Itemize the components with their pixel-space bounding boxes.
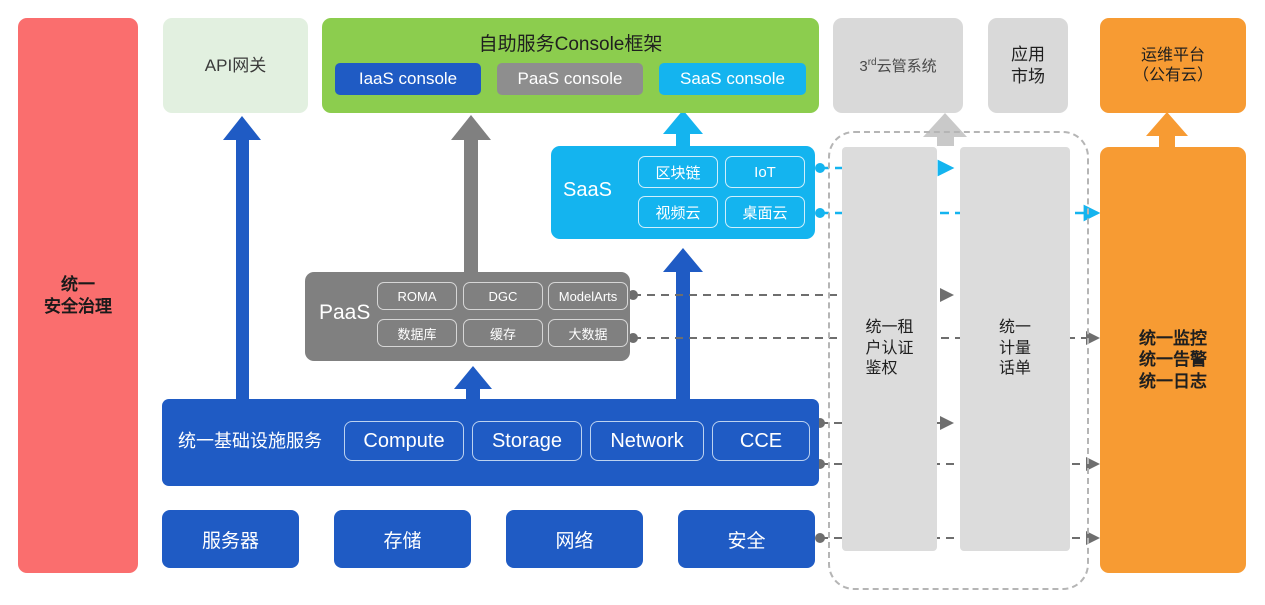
saas-console-button[interactable]: SaaS console — [659, 63, 806, 95]
saas-chip-desktop-cloud[interactable]: 桌面云 — [725, 196, 805, 228]
architecture-diagram-canvas: 统一 安全治理 API网关 自助服务Console框架 IaaS console… — [0, 0, 1265, 605]
unified-security-governance-panel[interactable]: 统一 安全治理 — [18, 18, 138, 573]
arrow-paas-to-console — [451, 115, 491, 273]
third-party-cloud-management-box[interactable]: 3rd云管系统 — [833, 18, 963, 113]
paas-chip-bigdata[interactable]: 大数据 — [548, 319, 628, 347]
api-gateway-box[interactable]: API网关 — [163, 18, 308, 113]
paas-chip-database[interactable]: 数据库 — [377, 319, 457, 347]
ops-platform-public-cloud-box[interactable]: 运维平台 （公有云） — [1100, 18, 1246, 113]
resource-box-security[interactable]: 安全 — [678, 510, 815, 568]
paas-chip-modelarts[interactable]: ModelArts — [548, 282, 628, 310]
saas-chip-video-cloud[interactable]: 视频云 — [638, 196, 718, 228]
third-cloud-label: 3rd云管系统 — [859, 55, 936, 76]
infrastructure-title: 统一基础设施服务 — [178, 427, 322, 453]
resource-box-server[interactable]: 服务器 — [162, 510, 299, 568]
arrow-saas-to-console — [663, 110, 703, 150]
saas-layer-title: SaaS — [563, 179, 612, 202]
paas-layer-title: PaaS — [319, 301, 370, 325]
paas-chip-dgc[interactable]: DGC — [463, 282, 543, 310]
arrow-infra-to-saas — [663, 248, 703, 400]
resource-box-network[interactable]: 网络 — [506, 510, 643, 568]
iaas-console-button[interactable]: IaaS console — [335, 63, 481, 95]
arrow-infra-to-api-gateway — [223, 116, 261, 400]
saas-layer-box[interactable]: SaaS 区块链 IoT 视频云 桌面云 — [551, 146, 815, 239]
paas-console-button[interactable]: PaaS console — [497, 63, 643, 95]
unified-metering-billing-panel[interactable]: 统一 计量 话单 — [960, 147, 1070, 551]
console-frame-title: 自助服务Console框架 — [322, 29, 819, 56]
paas-chip-cache[interactable]: 缓存 — [463, 319, 543, 347]
arrow-infra-to-paas — [454, 366, 492, 400]
saas-chip-blockchain[interactable]: 区块链 — [638, 156, 718, 188]
infra-chip-cce[interactable]: CCE — [712, 421, 810, 461]
application-market-box[interactable]: 应用 市场 — [988, 18, 1068, 113]
unified-monitoring-alarm-log-panel[interactable]: 统一监控 统一告警 统一日志 — [1100, 147, 1246, 573]
arrow-monitoring-to-ops-platform — [1146, 112, 1188, 148]
infra-chip-network[interactable]: Network — [590, 421, 704, 461]
paas-chip-roma[interactable]: ROMA — [377, 282, 457, 310]
infra-chip-compute[interactable]: Compute — [344, 421, 464, 461]
paas-layer-box[interactable]: PaaS ROMA DGC ModelArts 数据库 缓存 大数据 — [305, 272, 630, 361]
self-service-console-frame[interactable]: 自助服务Console框架 IaaS console PaaS console … — [322, 18, 819, 113]
resource-box-storage[interactable]: 存储 — [334, 510, 471, 568]
saas-chip-iot[interactable]: IoT — [725, 156, 805, 188]
unified-infrastructure-services-bar[interactable]: 统一基础设施服务 Compute Storage Network CCE — [162, 399, 819, 486]
infra-chip-storage[interactable]: Storage — [472, 421, 582, 461]
unified-tenant-auth-panel[interactable]: 统一租 户认证 鉴权 — [842, 147, 937, 551]
